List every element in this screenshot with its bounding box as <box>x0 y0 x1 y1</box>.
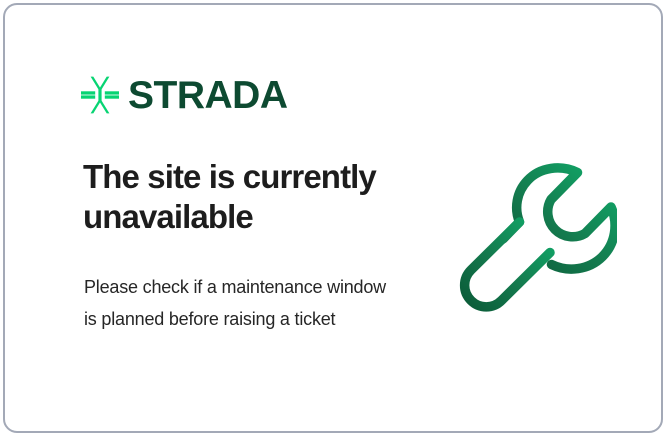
brand-lockup: STRADA <box>81 71 288 119</box>
brand-wordmark: STRADA <box>128 76 288 115</box>
strada-starburst-icon <box>81 76 119 114</box>
message-card: STRADA The site is currently unavailable… <box>3 3 663 433</box>
wrench-icon <box>457 153 617 321</box>
page-title: The site is currently unavailable <box>83 157 443 238</box>
page-description: Please check if a maintenance window is … <box>84 271 394 335</box>
error-page-screen: STRADA The site is currently unavailable… <box>0 0 666 436</box>
